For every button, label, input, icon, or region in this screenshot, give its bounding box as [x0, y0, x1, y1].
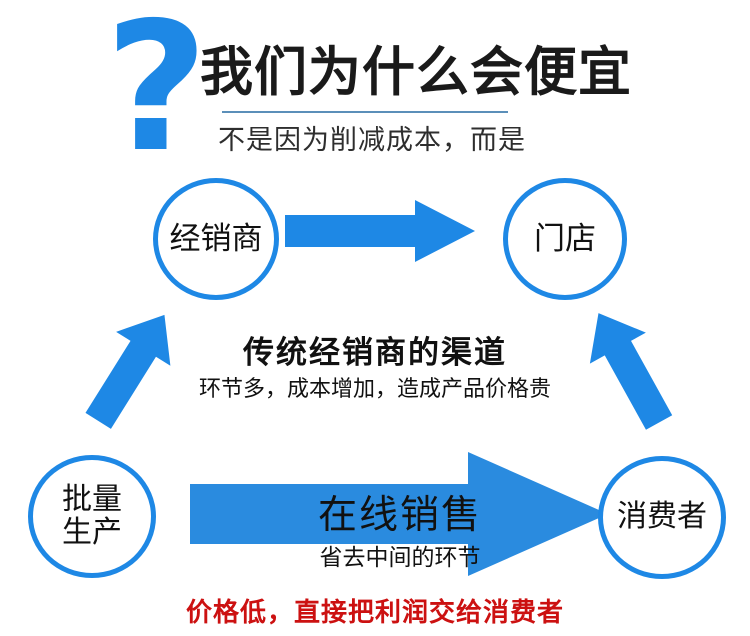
arrow-distributor-to-store — [285, 200, 485, 262]
node-store[interactable]: 门店 — [503, 178, 627, 300]
traditional-channel-description: 环节多，成本增加，造成产品价格贵 — [160, 371, 590, 403]
infographic-canvas: ? 我们为什么会便宜 不是因为削减成本，而是 经销商 门店 批量 生产 消费者 … — [0, 0, 750, 636]
title-underline-divider — [222, 111, 508, 113]
page-subtitle: 不是因为削减成本，而是 — [218, 118, 638, 157]
node-consumer-label: 消费者 — [617, 501, 707, 533]
node-production-label: 批量 生产 — [62, 484, 122, 549]
online-channel-description: 省去中间的环节 — [240, 538, 560, 572]
node-consumer[interactable]: 消费者 — [598, 456, 726, 579]
conclusion-note: 价格低，直接把利润交给消费者 — [75, 592, 675, 629]
node-production[interactable]: 批量 生产 — [28, 455, 156, 578]
traditional-channel-title: 传统经销商的渠道 — [160, 327, 590, 372]
question-mark-icon: ? — [98, 8, 213, 168]
online-channel-title: 在线销售 — [240, 484, 560, 540]
page-title: 我们为什么会便宜 — [200, 38, 600, 108]
node-distributor-label: 经销商 — [170, 222, 263, 255]
node-store-label: 门店 — [534, 222, 596, 255]
node-distributor[interactable]: 经销商 — [153, 178, 279, 300]
